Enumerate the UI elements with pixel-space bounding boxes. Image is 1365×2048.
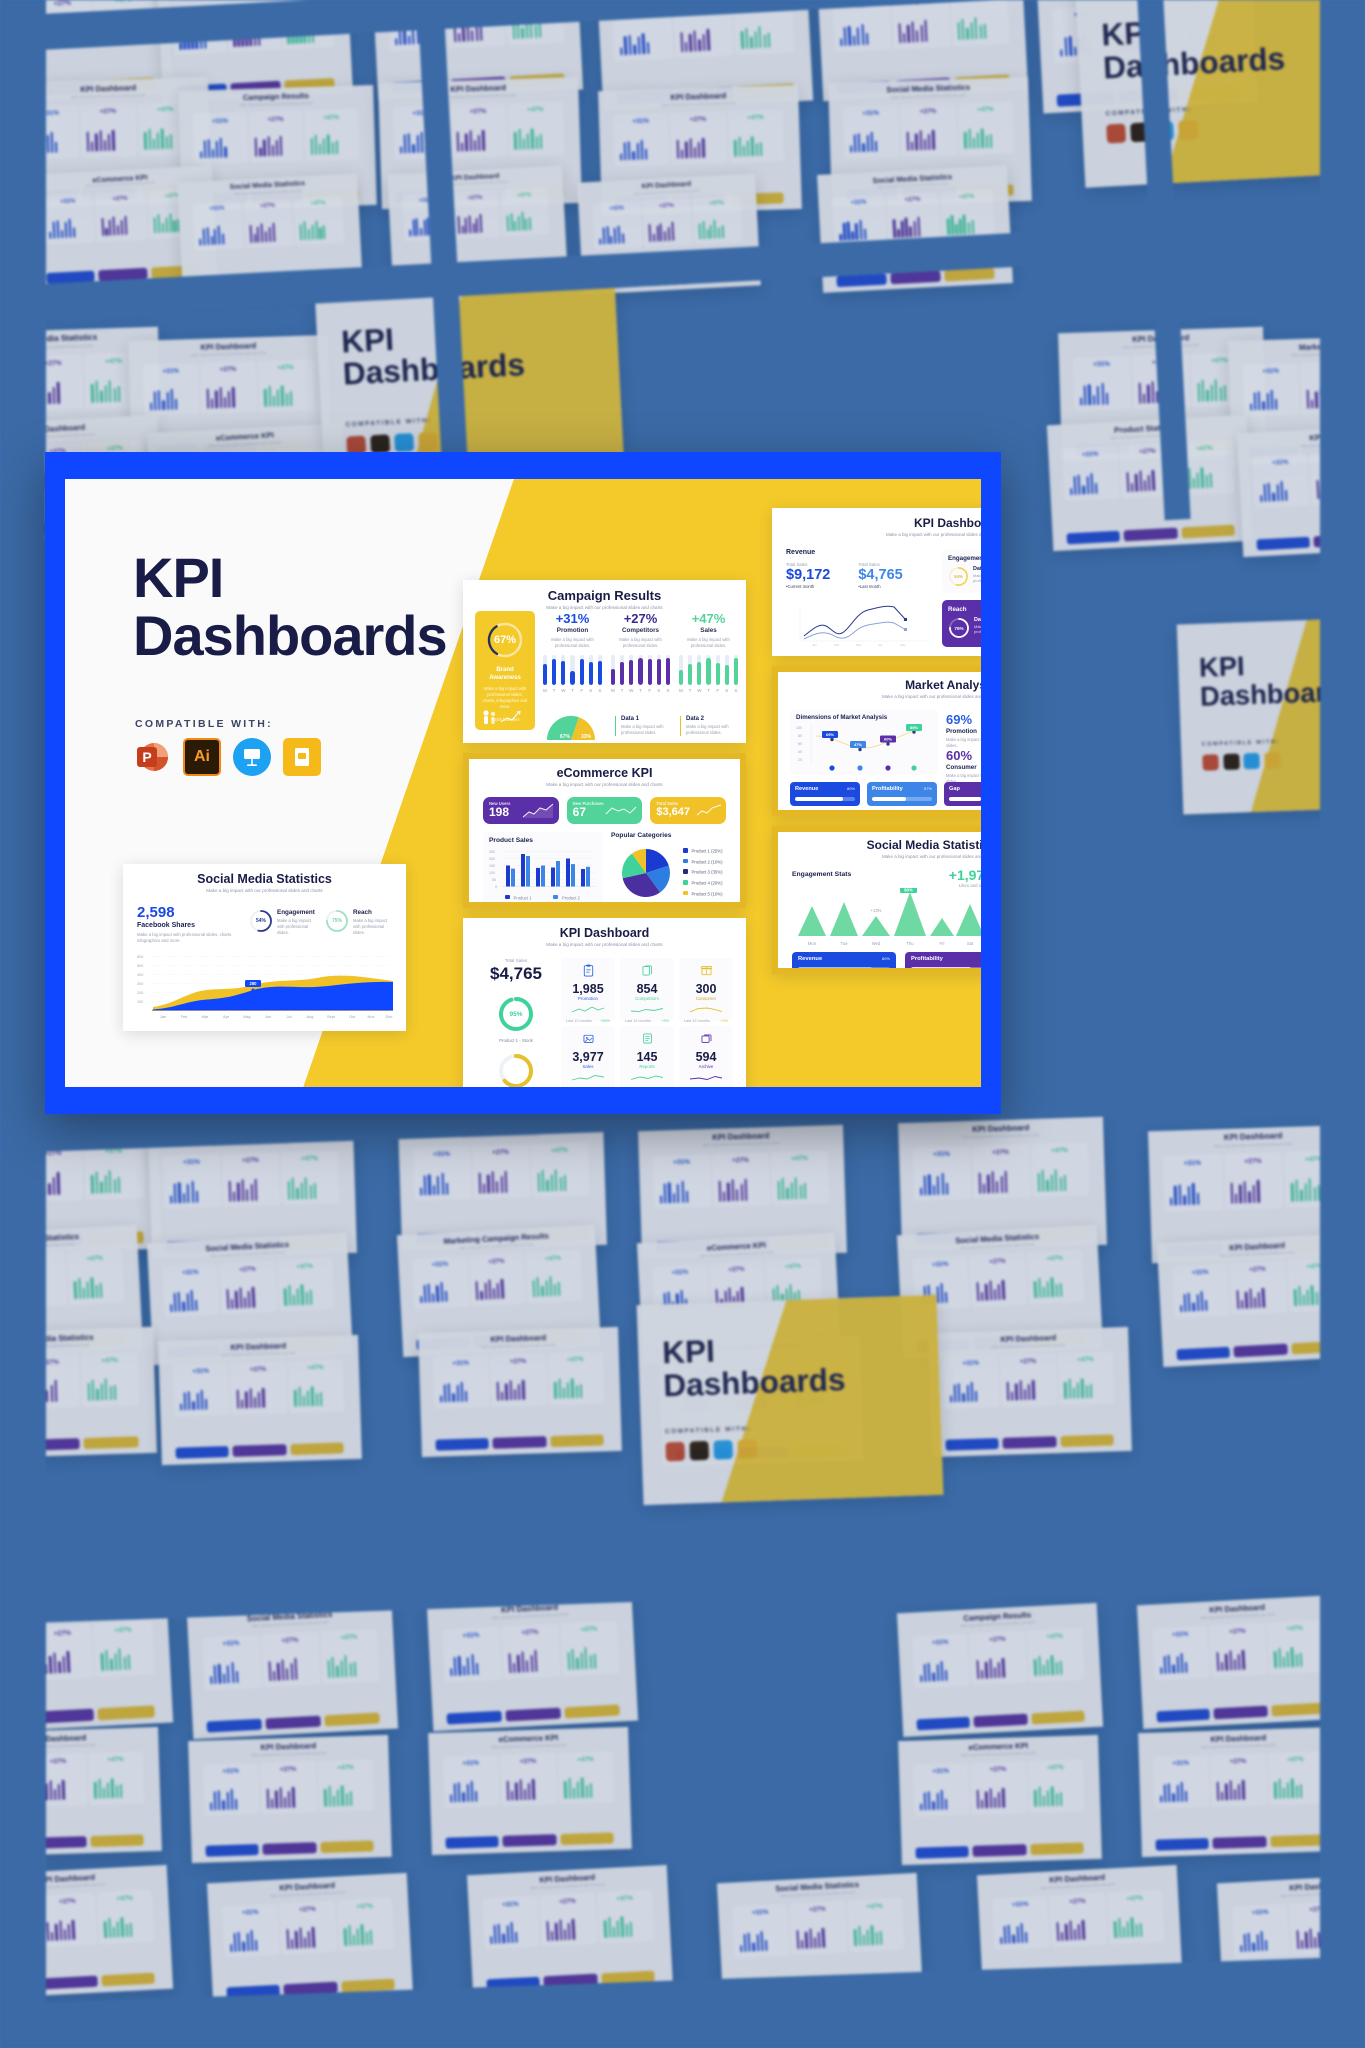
- tile-competitors-delta: +3%: [661, 1019, 669, 1023]
- tile-sales-value: 3,977: [561, 1050, 615, 1064]
- social-right-x-labels: MonTueWedThu FriSatSun: [808, 941, 981, 946]
- metric-competitors[interactable]: +27% Competitors Make a big impact with …: [611, 611, 670, 693]
- title-line-2: Dashboards: [133, 607, 447, 665]
- list-icon: [641, 1032, 654, 1045]
- social-right-minor-label: +13%: [871, 908, 882, 913]
- tile-competitors-value: 854: [620, 982, 674, 996]
- kpi-bottom-total-sales: Total Sales $4,765 95% Product 1 - Stock: [477, 958, 555, 1087]
- market-stat-promotion-label: Promotion: [946, 728, 981, 735]
- card-kpi-dashboard-right[interactable]: KPI Dashboard Make a big impact with our…: [772, 508, 981, 656]
- metric-competitors-value: +27%: [611, 611, 670, 626]
- illustrator-icon[interactable]: Ai: [183, 738, 221, 776]
- ecommerce-chips: New Users 198 New Purchases 67 Total Sal…: [483, 797, 726, 824]
- svg-text:Fri: Fri: [940, 941, 945, 946]
- market-stat-consumer-label: Consumer: [946, 764, 981, 771]
- kpi-right-figure-2-note: •Last month: [858, 584, 902, 589]
- kpi-bottom-tiles: 1,985 Promotion Last 12 months +65% 854 …: [561, 958, 733, 1087]
- svg-text:100: 100: [796, 726, 802, 730]
- campaign-note-1-desc: Make a big impact with professional slid…: [621, 724, 671, 736]
- ecommerce-title: eCommerce KPI: [469, 766, 740, 780]
- kpi-right-reach-ring: 75%: [948, 617, 970, 639]
- featured-slide-frame: KPI Dashboards COMPATIBLE WITH: P Ai: [45, 452, 1001, 1114]
- brand-awareness-donut: 67%: [485, 620, 525, 660]
- metric-promotion-value: +31%: [543, 611, 602, 626]
- social-right-peaks-chart: 80% +13% MonTueWedThu FriSatSun: [790, 888, 981, 948]
- product-sales-panel[interactable]: Product Sales 250200150 100500: [483, 832, 603, 904]
- svg-text:Jan: Jan: [812, 643, 817, 647]
- kpi-right-figure-1-value: $9,172: [786, 567, 830, 584]
- svg-text:Oct: Oct: [349, 1014, 356, 1019]
- market-bar-revenue[interactable]: Revenue 80%: [790, 782, 860, 806]
- pie-legend-0: Product 1 (25%): [692, 849, 723, 854]
- kpi-right-engagement-heading: Engagement: [948, 555, 981, 562]
- tile-reports-value: 145: [620, 1050, 674, 1064]
- market-bar-gap[interactable]: Gap 53%: [944, 782, 981, 806]
- tile-promotion-delta: +65%: [600, 1019, 610, 1023]
- bar-legend-0: Product 1: [514, 895, 532, 900]
- metric-sales-label: Sales: [679, 627, 738, 634]
- clipboard-icon: [582, 964, 595, 977]
- featured-slide: KPI Dashboards COMPATIBLE WITH: P Ai: [65, 479, 981, 1087]
- market-chart-panel[interactable]: Dimensions of Market Analysis 1008060402…: [790, 709, 938, 775]
- popular-categories-pie: [619, 846, 673, 900]
- market-bars: Revenue 80% Profitability 57% Gap 53%: [790, 782, 981, 806]
- tile-competitors-label: Competitors: [620, 996, 674, 1001]
- svg-text:Dec: Dec: [386, 1014, 393, 1019]
- social-left-engagement-value: 54%: [249, 909, 273, 933]
- tile-promotion-value: 1,985: [561, 982, 615, 996]
- documents-icon: [641, 964, 654, 977]
- metric-competitors-chart: [611, 655, 670, 685]
- kpi-right-header: KPI Dashboard Make a big impact with our…: [772, 508, 981, 537]
- social-left-engagement-label: Engagement: [277, 909, 319, 916]
- kpi-right-figure-2-value: $4,765: [858, 567, 902, 584]
- metric-promotion-days: MTWTFSS: [543, 688, 602, 693]
- metric-competitors-label: Competitors: [611, 627, 670, 634]
- image-icon: [582, 1032, 595, 1045]
- ecommerce-header: eCommerce KPI Make a big impact with our…: [469, 759, 740, 787]
- tile-consumer[interactable]: 300 Consumer Last 12 months +2%: [679, 958, 733, 1021]
- kpi-right-figure-2: Total Sales $4,765 •Last month: [858, 562, 902, 589]
- folders-icon: [700, 1032, 713, 1045]
- social-right-chart-title: Engagement Stats: [792, 871, 851, 878]
- svg-text:Jan: Jan: [160, 1014, 166, 1019]
- tile-consumer-period: Last 12 months: [684, 1019, 710, 1023]
- popular-categories-panel[interactable]: Popular Categories Product 1 (25%) Produ…: [611, 832, 739, 904]
- metric-competitors-days: MTWTFSS: [611, 688, 670, 693]
- svg-text:Jul: Jul: [287, 1014, 292, 1019]
- metric-promotion-desc: Make a big impact with professional slid…: [543, 637, 602, 649]
- svg-text:Nov: Nov: [368, 1014, 375, 1019]
- market-bar-revenue-label: Revenue: [795, 786, 818, 792]
- market-stat-consumer-value: 60%: [946, 748, 981, 763]
- svg-text:250: 250: [489, 850, 495, 854]
- market-subtitle: Make a big impact with our professional …: [778, 694, 981, 699]
- svg-text:Thu: Thu: [906, 941, 914, 946]
- social-right-bar-profitability-label: Profitability: [911, 956, 943, 962]
- kpi-right-figure-1: Total Sales $9,172 •Current month: [786, 562, 830, 589]
- svg-text:200: 200: [489, 857, 495, 861]
- svg-text:47%: 47%: [854, 742, 862, 747]
- svg-text:0: 0: [495, 885, 497, 889]
- market-bar-profitability[interactable]: Profitability 57%: [867, 782, 937, 806]
- social-right-bar-revenue[interactable]: Revenue 80%: [792, 952, 896, 974]
- social-left-tooltip: 280: [250, 981, 258, 986]
- svg-text:Apr: Apr: [878, 643, 883, 647]
- tile-promotion-period: Last 12 months: [566, 1019, 592, 1023]
- kpi-bottom-ring-1-label: Product 1 - Stock: [477, 1038, 555, 1043]
- market-chart-title: Dimensions of Market Analysis: [796, 714, 932, 721]
- kpi-right-engagement-data-label: Data 1: [973, 566, 981, 572]
- tile-sales-label: Sales: [561, 1064, 615, 1069]
- svg-text:150: 150: [489, 864, 495, 868]
- social-left-reach-label: Reach: [353, 909, 395, 916]
- svg-text:400: 400: [137, 973, 143, 977]
- brand-awareness-value: 67%: [485, 620, 525, 660]
- tile-consumer-value: 300: [679, 982, 733, 996]
- social-left-reach[interactable]: 75% Reach Make a big impact with profess…: [325, 909, 395, 936]
- gauge-yellow-pct: 33%: [581, 734, 592, 740]
- bar-legend-1: Product 2: [562, 895, 580, 900]
- tile-archive-label: Archive: [679, 1064, 733, 1069]
- tile-promotion[interactable]: 1,985 Promotion Last 12 months +65%: [561, 958, 615, 1021]
- kpi-right-revenue: Revenue Total Sales $9,172 •Current mont…: [786, 549, 903, 589]
- kpi-bottom-header: KPI Dashboard Make a big impact with our…: [463, 918, 746, 947]
- market-stat-promotion-value: 69%: [946, 712, 981, 727]
- kpi-right-title: KPI Dashboard: [772, 516, 981, 530]
- powerpoint-icon[interactable]: P: [133, 738, 171, 776]
- tile-sales[interactable]: 3,977 Sales Last 12 months +8%: [561, 1026, 615, 1087]
- metric-promotion-label: Promotion: [543, 627, 602, 634]
- svg-text:Sept: Sept: [327, 1014, 336, 1019]
- gauge-green-pct: 67%: [560, 734, 571, 740]
- social-left-engagement[interactable]: 54% Engagement Make a big impact with pr…: [249, 909, 319, 936]
- campaign-note-1-label: Data 1: [621, 716, 671, 722]
- card-campaign-results[interactable]: Campaign Results Make a big impact with …: [463, 580, 746, 743]
- svg-text:80: 80: [798, 734, 802, 738]
- social-left-reach-desc: Make a big impact with professional slid…: [353, 918, 395, 936]
- svg-text:Aug: Aug: [307, 1014, 314, 1019]
- social-left-area-chart: 600500400 300200100 280 JanFebMarA: [135, 952, 397, 1024]
- social-left-headline-value: 2,598: [137, 904, 245, 921]
- kpi-right-engagement-ring: 54%: [948, 566, 969, 587]
- svg-text:Feb: Feb: [834, 643, 840, 647]
- kpi-bottom-ring-2: [496, 1051, 536, 1087]
- market-bar-gap-label: Gap: [949, 786, 960, 792]
- campaign-title: Campaign Results: [463, 588, 746, 603]
- card-ecommerce-kpi[interactable]: eCommerce KPI Make a big impact with our…: [463, 753, 746, 908]
- kpi-right-reach-data-label: Data 2: [974, 617, 981, 623]
- chip-total-sales[interactable]: Total Sales $3,647: [650, 797, 726, 824]
- kpi-right-engagement-desc: Make a big impact with professional slid…: [973, 573, 981, 584]
- kpi-right-reach-desc: Make a big impact with professional slid…: [974, 624, 981, 635]
- title-line-1: KPI: [133, 549, 447, 607]
- social-left-header: Social Media Statistics Make a big impac…: [123, 864, 406, 893]
- social-left-headline-label: Facebook Shares: [137, 922, 245, 929]
- market-bar-profitability-label: Profitability: [872, 786, 903, 792]
- chip-new-purchases[interactable]: New Purchases 67: [567, 797, 643, 824]
- kpi-bottom-ring-1: 95%: [496, 994, 536, 1034]
- social-left-engagement-desc: Make a big impact with professional slid…: [277, 918, 319, 936]
- pie-legend-3: Product 4 (20%): [692, 881, 723, 886]
- kpi-bottom-ring-1-value: 95%: [496, 994, 536, 1034]
- svg-text:May: May: [900, 643, 906, 647]
- social-left-reach-value: 75%: [325, 909, 349, 933]
- google-slides-icon[interactable]: [283, 738, 321, 776]
- product-sales-legend: Product 1 Product 2: [505, 895, 580, 901]
- svg-text:Feb: Feb: [181, 1014, 188, 1019]
- social-right-bar-profitability[interactable]: Profitability 65%: [905, 952, 981, 974]
- market-bar-profitability-pct: 57%: [924, 786, 932, 791]
- box-icon: [700, 964, 713, 977]
- social-left-subtitle: Make a big impact with our professional …: [123, 888, 406, 893]
- svg-text:Tue: Tue: [840, 941, 848, 946]
- social-left-x-labels: JanFebMarApr MayJunJulAug SeptOctNovDec: [160, 1014, 393, 1019]
- social-right-headline: +1,976 Likes and shares: [949, 867, 981, 888]
- social-right-bar-revenue-pct: 80%: [882, 956, 890, 961]
- tile-competitors-period: Last 12 months: [625, 1019, 651, 1023]
- brand-awareness-label-1: Brand: [496, 667, 513, 673]
- card-social-left[interactable]: Social Media Statistics Make a big impac…: [123, 864, 406, 1031]
- social-right-bars: Revenue 80% Profitability 65%: [792, 952, 981, 974]
- social-left-headline-desc: Make a big impact with professional slid…: [137, 932, 245, 945]
- tile-consumer-delta: +2%: [720, 1019, 728, 1023]
- market-header: Market Analysis Make a big impact with o…: [778, 672, 981, 699]
- kpi-right-figure-1-note: •Current month: [786, 584, 830, 589]
- page-title: KPI Dashboards: [133, 549, 447, 665]
- campaign-note-2[interactable]: Data 2 Make a big impact with profession…: [680, 716, 736, 736]
- social-left-headline: 2,598 Facebook Shares Make a big impact …: [137, 904, 245, 945]
- svg-text:300: 300: [137, 982, 143, 986]
- chip-new-users[interactable]: New Users 198: [483, 797, 559, 824]
- svg-text:Mon: Mon: [808, 941, 817, 946]
- pie-legend-1: Product 2 (10%): [692, 859, 723, 864]
- metric-promotion-chart: [543, 655, 602, 685]
- svg-text:Jun: Jun: [265, 1014, 271, 1019]
- svg-text:85%: 85%: [910, 725, 918, 730]
- pie-legend-4: Product 5 (10%): [692, 891, 723, 896]
- svg-text:20: 20: [798, 758, 802, 762]
- tile-reports[interactable]: 145 Reports Last 12 months +4%: [620, 1026, 674, 1087]
- metric-sales[interactable]: +47% Sales Make a big impact with profes…: [679, 611, 738, 693]
- tile-archive-value: 594: [679, 1050, 733, 1064]
- brand-awareness-desc: Make a big impact with professional slid…: [482, 686, 528, 710]
- svg-text:P: P: [142, 749, 151, 765]
- svg-text:600: 600: [137, 955, 143, 959]
- svg-text:100: 100: [137, 1000, 143, 1004]
- campaign-note-2-label: Data 2: [686, 716, 736, 722]
- svg-text:Apr: Apr: [223, 1014, 230, 1019]
- popular-categories-title: Popular Categories: [611, 832, 739, 839]
- metric-sales-days: MTWTFSS: [679, 688, 738, 693]
- svg-text:50: 50: [492, 878, 496, 882]
- kpi-bottom-subtitle: Make a big impact with our professional …: [463, 942, 746, 947]
- social-right-headline-value: +1,976: [949, 867, 981, 883]
- metric-sales-value: +47%: [679, 611, 738, 626]
- brand-awareness-label-2: Awareness: [489, 675, 521, 681]
- social-right-peak-label: 80%: [904, 888, 913, 892]
- card-kpi-dashboard-bottom[interactable]: KPI Dashboard Make a big impact with our…: [463, 918, 746, 1087]
- svg-text:40: 40: [798, 750, 802, 754]
- tile-consumer-label: Consumer: [679, 996, 733, 1001]
- compatible-apps: P Ai: [133, 738, 321, 776]
- market-scatter-chart: 10080604020 69% 47% 60% 85%: [794, 723, 936, 773]
- svg-text:500: 500: [137, 964, 143, 968]
- market-stat-promotion-desc: Make a big impact with professional slid…: [946, 737, 981, 749]
- metric-sales-chart: [679, 655, 738, 685]
- metric-competitors-desc: Make a big impact with professional slid…: [611, 637, 670, 649]
- kpi-right-subtitle: Make a big impact with our professional …: [772, 532, 981, 537]
- brand-awareness-panel[interactable]: 67% Brand Awareness Make a big impact wi…: [475, 611, 535, 730]
- kpi-bottom-total-caption: Total Sales: [477, 958, 555, 963]
- campaign-subtitle: Make a big impact with our professional …: [463, 605, 746, 610]
- svg-text:Wed: Wed: [872, 941, 881, 946]
- keynote-icon[interactable]: [233, 738, 271, 776]
- social-right-title: Social Media Statistics: [778, 838, 981, 852]
- svg-text:60: 60: [798, 742, 802, 746]
- kpi-bottom-title: KPI Dashboard: [463, 926, 746, 940]
- metric-sales-desc: Make a big impact with professional slid…: [679, 637, 738, 649]
- svg-text:Mar: Mar: [856, 643, 861, 647]
- campaign-note-2-desc: Make a big impact with professional slid…: [686, 724, 736, 736]
- svg-text:200: 200: [137, 991, 143, 995]
- svg-text:Mar: Mar: [202, 1014, 209, 1019]
- market-stat-promotion: 69% Promotion Make a big impact with pro…: [946, 712, 981, 749]
- kpi-right-reach-heading: Reach: [948, 606, 981, 613]
- market-bar-revenue-pct: 80%: [847, 786, 855, 791]
- campaign-header: Campaign Results Make a big impact with …: [463, 580, 746, 610]
- product-sales-title: Product Sales: [489, 837, 603, 844]
- campaign-gauge: 67% 33%: [545, 714, 597, 743]
- svg-text:100: 100: [489, 871, 495, 875]
- kpi-right-line-chart: JanFebMarAprMay: [794, 603, 932, 649]
- social-left-title: Social Media Statistics: [123, 872, 406, 886]
- tile-promotion-label: Promotion: [561, 996, 615, 1001]
- tile-competitors[interactable]: 854 Competitors Last 12 months +3%: [620, 958, 674, 1021]
- market-title: Market Analysis: [778, 678, 981, 692]
- svg-text:May: May: [243, 1014, 250, 1019]
- campaign-metrics: +31% Promotion Make a big impact with pr…: [543, 611, 739, 693]
- kpi-right-engagement[interactable]: Engagement 54% Data 1 Make a big impact …: [942, 549, 981, 593]
- product-sales-chart: 250200150 100500: [487, 849, 599, 893]
- kpi-right-revenue-label: Revenue: [786, 549, 903, 556]
- svg-text:60%: 60%: [884, 737, 892, 742]
- tile-archive[interactable]: 594 Archive Last 12 months +7%: [679, 1026, 733, 1087]
- campaign-note-1[interactable]: Data 1 Make a big impact with profession…: [615, 716, 671, 736]
- card-market-analysis[interactable]: Market Analysis Make a big impact with o…: [772, 666, 981, 816]
- pie-legend-2: Product 3 (35%): [692, 870, 723, 875]
- pie-legend: Product 1 (25%) Product 2 (10%) Product …: [683, 848, 723, 896]
- kpi-right-reach[interactable]: Reach 75% Data 2 Make a big impact with …: [942, 600, 981, 647]
- social-right-header: Social Media Statistics Make a big impac…: [778, 832, 981, 859]
- metric-promotion[interactable]: +31% Promotion Make a big impact with pr…: [543, 611, 602, 693]
- card-social-right[interactable]: Social Media Statistics Make a big impac…: [772, 826, 981, 974]
- social-right-subtitle: Make a big impact with our professional …: [778, 854, 981, 859]
- tile-reports-label: Reports: [620, 1064, 674, 1069]
- ecommerce-subtitle: Make a big impact with our professional …: [469, 782, 740, 787]
- social-right-bar-revenue-label: Revenue: [798, 956, 822, 962]
- compatible-with-label: COMPATIBLE WITH:: [135, 718, 273, 730]
- kpi-bottom-total-value: $4,765: [477, 964, 555, 984]
- svg-text:Sat: Sat: [967, 941, 974, 946]
- svg-text:69%: 69%: [826, 732, 834, 737]
- market-stat-consumer: 60% Consumer Make a big impact with prof…: [946, 748, 981, 785]
